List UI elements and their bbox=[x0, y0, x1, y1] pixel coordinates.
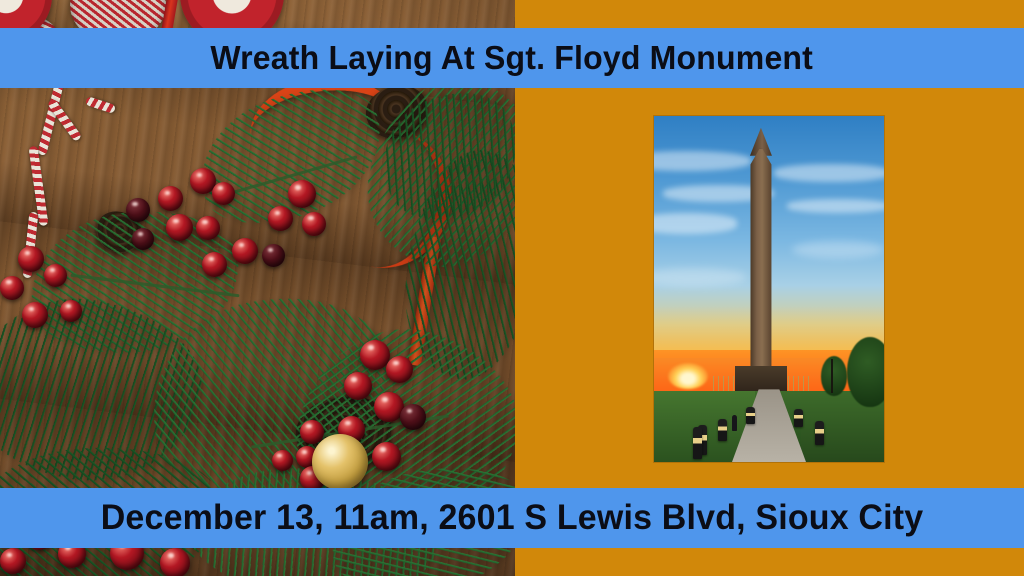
red-berry bbox=[272, 450, 293, 471]
red-berry bbox=[0, 276, 24, 300]
red-berry bbox=[132, 228, 154, 250]
person-figure bbox=[732, 415, 737, 431]
event-flyer: Wreath Laying At Sgt. Floyd Monument Dec… bbox=[0, 0, 1024, 576]
red-berry bbox=[44, 264, 67, 287]
red-berry bbox=[202, 252, 227, 277]
red-berry bbox=[400, 404, 426, 430]
sgt-floyd-monument-photo bbox=[654, 116, 884, 462]
lamp-post bbox=[831, 359, 833, 393]
page-title: Wreath Laying At Sgt. Floyd Monument bbox=[211, 39, 814, 77]
details-banner: December 13, 11am, 2601 S Lewis Blvd, Si… bbox=[0, 488, 1024, 548]
red-berry bbox=[268, 206, 293, 231]
red-berry bbox=[302, 212, 326, 236]
red-berry bbox=[0, 548, 26, 574]
red-berry bbox=[232, 238, 258, 264]
red-berry bbox=[18, 246, 44, 272]
red-berry bbox=[158, 186, 183, 211]
tree bbox=[847, 337, 884, 407]
bollard-light bbox=[693, 427, 702, 459]
red-berry bbox=[212, 182, 235, 205]
bollard-light bbox=[746, 407, 755, 424]
red-berry bbox=[344, 372, 372, 400]
bollard-light bbox=[794, 409, 803, 427]
red-berry bbox=[166, 214, 193, 241]
cloud bbox=[787, 199, 884, 213]
obelisk-monument bbox=[750, 149, 771, 374]
red-berry bbox=[160, 548, 190, 576]
red-berry bbox=[288, 180, 316, 208]
red-berry bbox=[126, 198, 150, 222]
bollard-light bbox=[815, 421, 824, 445]
gold-ornament-ball bbox=[312, 434, 368, 490]
red-berry bbox=[196, 216, 220, 240]
cloud bbox=[792, 241, 884, 258]
red-berry bbox=[386, 356, 413, 383]
cloud bbox=[654, 213, 737, 234]
red-berry bbox=[60, 300, 82, 322]
title-banner: Wreath Laying At Sgt. Floyd Monument bbox=[0, 28, 1024, 88]
bollard-light bbox=[718, 419, 727, 441]
red-berry bbox=[22, 302, 48, 328]
cloud bbox=[654, 268, 746, 285]
bakers-twine bbox=[85, 96, 116, 114]
tree bbox=[821, 356, 847, 396]
red-berry bbox=[372, 442, 401, 471]
event-details: December 13, 11am, 2601 S Lewis Blvd, Si… bbox=[101, 498, 924, 538]
cloud bbox=[774, 164, 884, 181]
red-berry bbox=[262, 244, 285, 267]
